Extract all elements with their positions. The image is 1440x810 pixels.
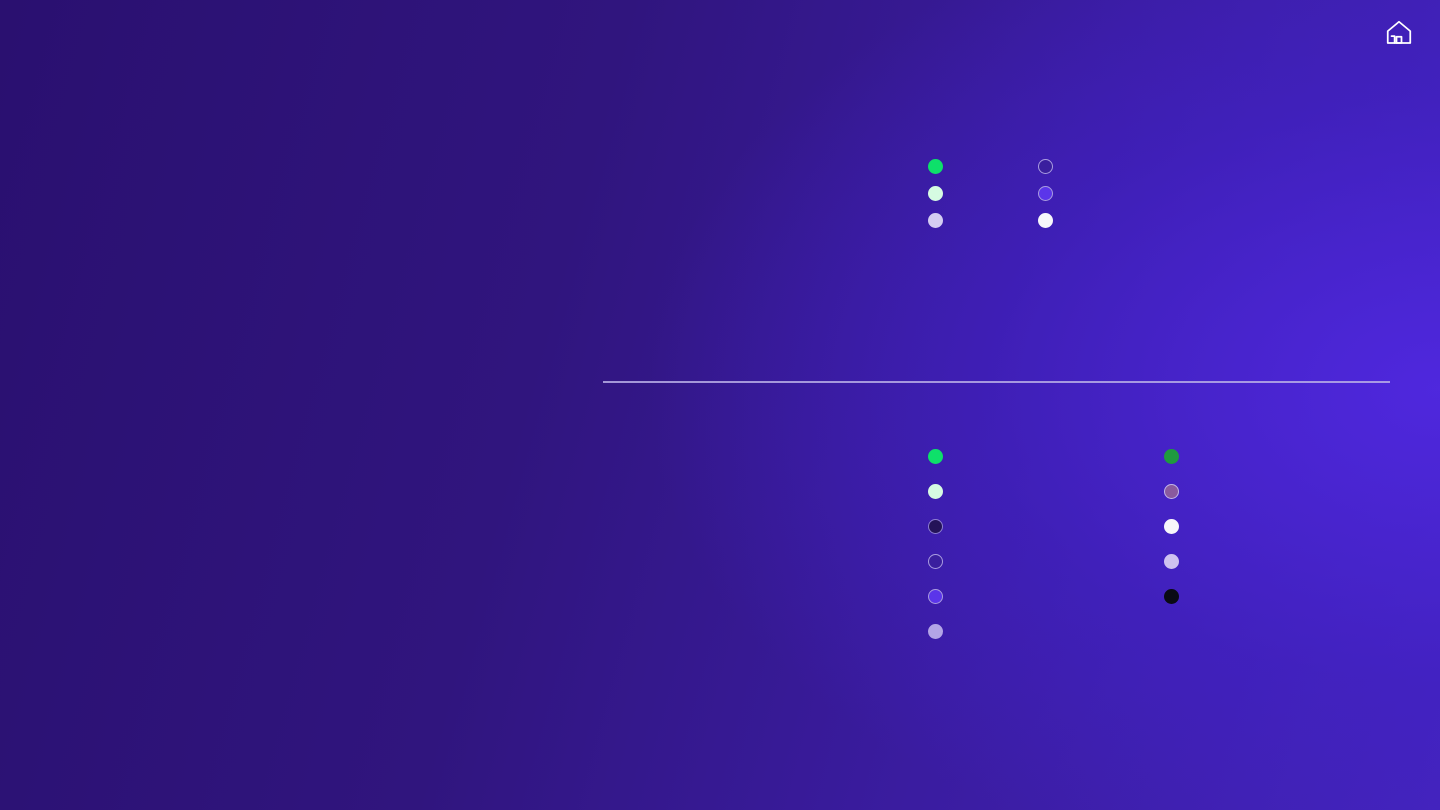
legend-item[interactable]: [1164, 483, 1190, 499]
section-divider: [603, 381, 1390, 383]
legend-swatch-icon: [928, 589, 943, 604]
legend-swatch-icon: [1164, 449, 1179, 464]
legend-item[interactable]: [928, 623, 1164, 639]
legend-swatch-icon: [1164, 589, 1179, 604]
legend-swatch-icon: [928, 213, 943, 228]
chart-origine-des-repondants: [608, 58, 898, 348]
legend-swatch-icon: [928, 484, 943, 499]
legend-item[interactable]: [1164, 588, 1190, 604]
legend-swatch-icon: [1038, 159, 1053, 174]
legend-item[interactable]: [928, 185, 1038, 201]
legend-swatch-icon: [928, 186, 943, 201]
legend-item[interactable]: [928, 588, 1164, 604]
legend-swatch-icon: [1038, 213, 1053, 228]
legend-item[interactable]: [928, 553, 1164, 569]
legend-swatch-icon: [1164, 519, 1179, 534]
home-icon[interactable]: [1384, 18, 1414, 48]
legend-secteur-d-activite: [928, 448, 1190, 658]
legend-swatch-icon: [1038, 186, 1053, 201]
legend-swatch-icon: [928, 554, 943, 569]
legend-item[interactable]: [1164, 448, 1190, 464]
legend-item[interactable]: [1038, 212, 1064, 228]
legend-item[interactable]: [1164, 553, 1190, 569]
legend-column: [1164, 448, 1190, 658]
legend-column: [1038, 158, 1064, 239]
org-size-block: [52, 373, 612, 419]
legend-item[interactable]: [1038, 158, 1064, 174]
legend-swatch-icon: [1164, 484, 1179, 499]
legend-item[interactable]: [1164, 518, 1190, 534]
legend-swatch-icon: [928, 449, 943, 464]
legend-column: [928, 448, 1164, 658]
legend-item[interactable]: [1038, 185, 1064, 201]
donut-chart-svg: [592, 437, 902, 747]
chart-secteur-d-activite-des-repondants: [592, 437, 902, 747]
legend-item[interactable]: [928, 483, 1164, 499]
legend-item[interactable]: [928, 518, 1164, 534]
legend-swatch-icon: [928, 624, 943, 639]
donut-chart-svg: [608, 58, 898, 348]
legend-item[interactable]: [928, 158, 1038, 174]
legend-column: [928, 158, 1038, 239]
legend-swatch-icon: [1164, 554, 1179, 569]
legend-origine-des-repondants: [928, 158, 1064, 239]
legend-swatch-icon: [928, 519, 943, 534]
slide-canvas: [0, 0, 1440, 810]
legend-swatch-icon: [928, 159, 943, 174]
legend-item[interactable]: [928, 448, 1164, 464]
legend-item[interactable]: [928, 212, 1038, 228]
